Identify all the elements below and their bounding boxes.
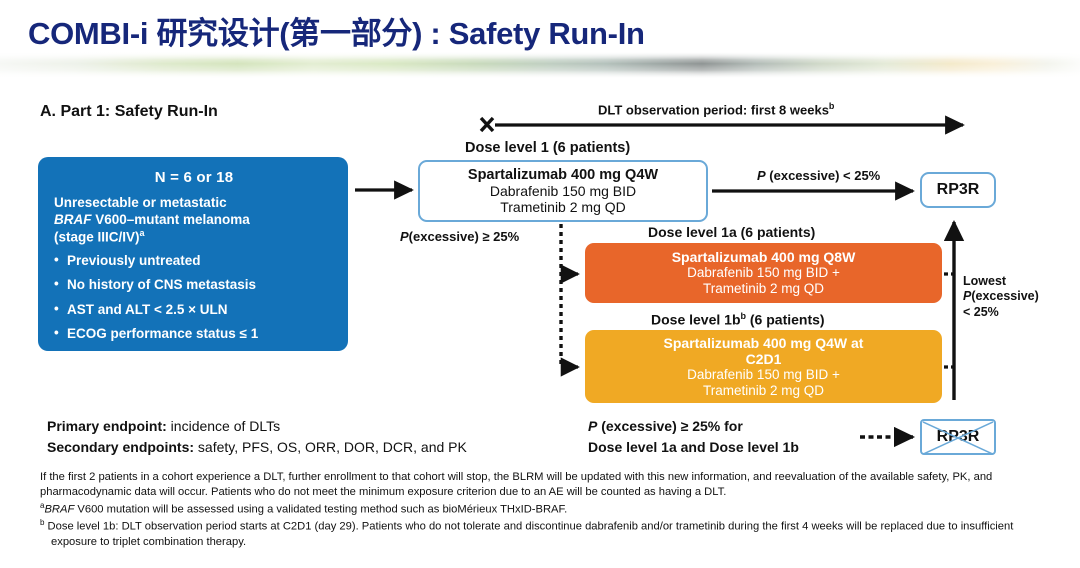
p-excessive-ge-text: (excessive) ≥ 25%: [409, 229, 520, 244]
list-item: No history of CNS metastasis: [54, 278, 334, 292]
population-description: Unresectable or metastatic BRAF V600–mut…: [54, 195, 334, 247]
dose-level-1-caption: Dose level 1 (6 patients): [465, 140, 630, 156]
secondary-endpoint-row: Secondary endpoints: safety, PFS, OS, OR…: [47, 437, 467, 458]
bottom-condition-line2: Dose level 1a and Dose level 1b: [588, 439, 799, 455]
section-label: A. Part 1: Safety Run-In: [40, 103, 218, 121]
p-excessive-less-label: P (excessive) < 25%: [757, 168, 880, 183]
bottom-condition-label: P (excessive) ≥ 25% for Dose level 1a an…: [588, 416, 799, 458]
lowest-threshold-text: < 25%: [963, 305, 999, 319]
dose-level-1a-caption: Dose level 1a (6 patients): [648, 224, 815, 240]
population-gene: BRAF: [54, 212, 92, 227]
rp3r-box-top: RP3R: [920, 172, 996, 208]
dose-level-1b-line2: C2D1: [746, 351, 782, 367]
lowest-text: Lowest: [963, 274, 1006, 288]
list-item: Previously untreated: [54, 254, 334, 268]
population-lead-2: V600–mutant melanoma: [92, 212, 250, 227]
footnote-a-text: V600 mutation will be assessed using a v…: [74, 503, 567, 515]
population-stage-footnote-marker: a: [140, 228, 145, 238]
dose-level-1b-box: Spartalizumab 400 mg Q4W at C2D1 Dabrafe…: [585, 330, 942, 403]
dose-level-1b-caption-rest: (6 patients): [746, 312, 825, 328]
footnotes-block: If the first 2 patients in a cohort expe…: [40, 470, 1045, 550]
dose-level-1a-line1: Spartalizumab 400 mg Q8W: [672, 249, 856, 266]
dlt-observation-label: DLT observation period: first 8 weeksb: [598, 101, 834, 117]
footnote-a: aBRAF V600 mutation will be assessed usi…: [40, 501, 1045, 518]
dose-level-1b-caption-main: Dose level 1b: [651, 312, 741, 328]
lowest-p-label: Lowest P(excessive) < 25%: [963, 274, 1058, 320]
footnote-a-gene: BRAF: [44, 503, 74, 515]
p-excessive-ge-label: P(excessive) ≥ 25%: [400, 229, 519, 244]
footnote-main: If the first 2 patients in a cohort expe…: [40, 470, 1045, 500]
rp3r-bottom-label: RP3R: [937, 428, 980, 446]
dose-level-1-line3: Trametinib 2 mg QD: [500, 199, 626, 215]
dose-level-1-box: Spartalizumab 400 mg Q4W Dabrafenib 150 …: [418, 160, 708, 222]
lowest-excessive-text: (excessive): [971, 289, 1038, 303]
rp3r-top-label: RP3R: [937, 181, 980, 199]
p-symbol: P: [588, 418, 597, 434]
dose-level-1b-line3: Dabrafenib 150 mg BID +: [687, 367, 840, 383]
secondary-endpoint-label: Secondary endpoints:: [47, 439, 194, 455]
p-symbol: P: [757, 168, 766, 183]
dashed-branch-connector: [561, 224, 578, 367]
primary-endpoint-value: incidence of DLTs: [167, 418, 280, 434]
dlt-footnote-marker: b: [829, 101, 835, 111]
dose-level-1a-line3: Trametinib 2 mg QD: [703, 281, 824, 297]
p-symbol: P: [400, 229, 409, 244]
population-stage: (stage IIIC/IV): [54, 230, 140, 245]
population-criteria-list: Previously untreated No history of CNS m…: [54, 254, 334, 341]
primary-endpoint-row: Primary endpoint: incidence of DLTs: [47, 416, 467, 437]
primary-endpoint-label: Primary endpoint:: [47, 418, 167, 434]
population-lead-1: Unresectable or metastatic: [54, 195, 227, 210]
dlt-observation-arrow: [481, 118, 963, 131]
endpoints-block: Primary endpoint: incidence of DLTs Seco…: [47, 416, 467, 458]
slide-canvas: COMBI-i 研究设计(第一部分) : Safety Run-In A. Pa…: [0, 0, 1080, 568]
dose-level-1b-caption: Dose level 1bb (6 patients): [651, 311, 825, 328]
secondary-endpoint-value: safety, PFS, OS, ORR, DOR, DCR, and PK: [194, 439, 467, 455]
page-title: COMBI-i 研究设计(第一部分) : Safety Run-In: [28, 8, 645, 53]
arrow-lowest-p-to-rp3r: [944, 222, 954, 400]
dose-level-1a-line2: Dabrafenib 150 mg BID +: [687, 265, 840, 281]
dose-level-1b-line1: Spartalizumab 400 mg Q4W at: [664, 335, 864, 351]
footnote-b: b Dose level 1b: DLT observation period …: [40, 518, 1045, 549]
rp3r-box-bottom: RP3R: [920, 419, 996, 455]
list-item: ECOG performance status ≤ 1: [54, 327, 334, 341]
population-n-line: N = 6 or 18: [54, 169, 334, 186]
dlt-observation-text: DLT observation period: first 8 weeks: [598, 102, 829, 117]
dose-level-1-line2: Dabrafenib 150 mg BID: [490, 183, 636, 199]
bottom-condition-line1: (excessive) ≥ 25% for: [597, 418, 742, 434]
footnote-b-text: Dose level 1b: DLT observation period st…: [44, 521, 1013, 548]
population-box: N = 6 or 18 Unresectable or metastatic B…: [38, 157, 348, 351]
dose-level-1b-line4: Trametinib 2 mg QD: [703, 383, 824, 399]
dose-level-1-line1: Spartalizumab 400 mg Q4W: [468, 167, 658, 183]
header-banner-image: [0, 52, 1080, 78]
p-excessive-less-text: (excessive) < 25%: [766, 168, 881, 183]
list-item: AST and ALT < 2.5 × ULN: [54, 303, 334, 317]
dose-level-1a-box: Spartalizumab 400 mg Q8W Dabrafenib 150 …: [585, 243, 942, 303]
